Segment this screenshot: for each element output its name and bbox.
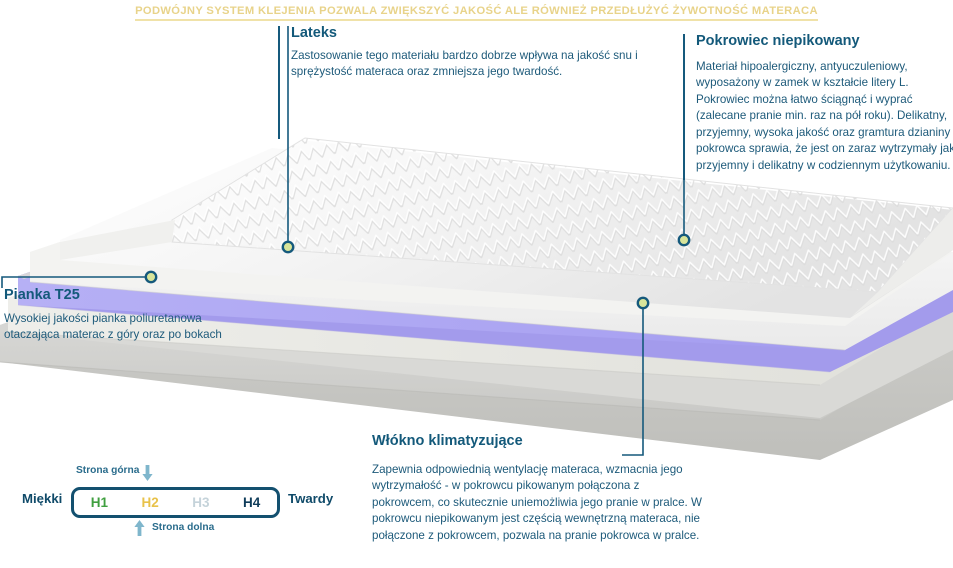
callout-pianka: Pianka T25 Wysokiej jakości pianka poliu… xyxy=(4,288,224,344)
callout-pokrowiec: Pokrowiec niepikowany Materiał hipoalerg… xyxy=(683,34,953,180)
hardness-level-h2[interactable]: H2 xyxy=(141,495,158,510)
callout-pokrowiec-body: Materiał hipoalergiczny, antyuczuleniowy… xyxy=(696,59,953,174)
scale-top-label: Strona górna xyxy=(76,465,139,476)
hardness-level-h4[interactable]: H4 xyxy=(243,495,260,510)
hardness-scale: Strona górna Miękki H1 H2 H3 H4 Twardy S… xyxy=(0,462,360,562)
scale-hard-label: Twardy xyxy=(288,491,333,506)
callout-lateks: Lateks Zastosowanie tego materiału bardz… xyxy=(278,26,666,139)
header-banner: PODWÓJNY SYSTEM KLEJENIA POZWALA ZWIĘKSZ… xyxy=(0,0,953,26)
callout-wlokno-title: Włókno klimatyzujące xyxy=(372,434,702,450)
scale-soft-label: Miękki xyxy=(22,491,62,506)
hardness-box: H1 H2 H3 H4 xyxy=(71,487,280,518)
callout-pianka-title: Pianka T25 xyxy=(4,288,224,304)
callout-wlokno: Włókno klimatyzujące Zapewnia odpowiedni… xyxy=(372,434,702,544)
banner-text: PODWÓJNY SYSTEM KLEJENIA POZWALA ZWIĘKSZ… xyxy=(135,5,818,21)
callout-lateks-body: Zastosowanie tego materiału bardzo dobrz… xyxy=(291,48,666,81)
arrow-down-icon xyxy=(142,465,153,482)
callout-pianka-body: Wysokiej jakości pianka poliuretanowa ot… xyxy=(4,311,224,344)
callout-lateks-title: Lateks xyxy=(291,26,666,42)
callout-pokrowiec-title: Pokrowiec niepikowany xyxy=(696,34,953,50)
hardness-level-h1[interactable]: H1 xyxy=(91,495,108,510)
hardness-level-h3[interactable]: H3 xyxy=(192,495,209,510)
scale-bottom-label: Strona dolna xyxy=(152,522,214,533)
callout-wlokno-body: Zapewnia odpowiednią wentylację materaca… xyxy=(372,462,702,544)
arrow-up-icon xyxy=(134,520,145,537)
